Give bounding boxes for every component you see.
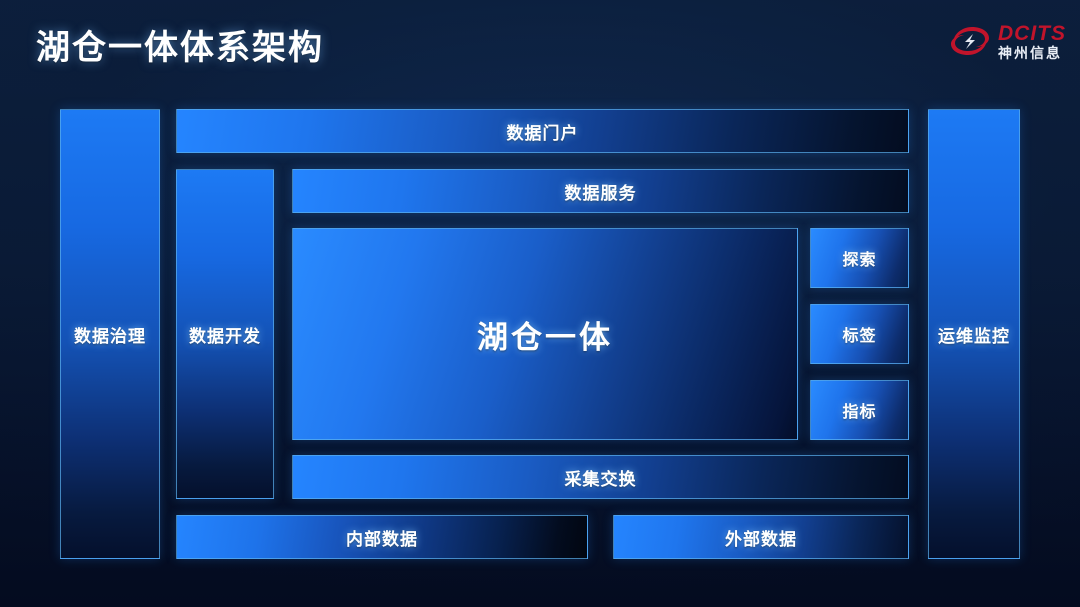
block-lakehouse[interactable]: 湖仓一体: [292, 228, 798, 440]
slide-canvas: 湖仓一体体系架构 DCITS 神州信息 数据治理 数据门户 数据开发 数据服务 …: [0, 0, 1080, 607]
block-external-data[interactable]: 外部数据: [613, 515, 909, 559]
block-internal-data-label: 内部数据: [346, 525, 418, 550]
block-tag[interactable]: 标签: [810, 304, 909, 364]
block-data-governance[interactable]: 数据治理: [60, 109, 160, 559]
block-data-service[interactable]: 数据服务: [292, 169, 909, 213]
block-tag-label: 标签: [842, 322, 876, 346]
block-ops-monitoring[interactable]: 运维监控: [928, 109, 1020, 559]
block-metric[interactable]: 指标: [810, 380, 909, 440]
block-data-portal-label: 数据门户: [507, 119, 579, 144]
block-data-service-label: 数据服务: [565, 179, 637, 204]
block-internal-data[interactable]: 内部数据: [176, 515, 588, 559]
brand-logo: DCITS 神州信息: [948, 18, 1066, 64]
block-metric-label: 指标: [842, 398, 876, 422]
block-explore-label: 探索: [842, 246, 876, 270]
swirl-logo-icon: [948, 24, 992, 58]
block-ops-monitoring-label: 运维监控: [938, 322, 1010, 347]
block-collect-exchange-label: 采集交换: [565, 465, 637, 490]
brand-name-cn: 神州信息: [998, 46, 1066, 60]
block-explore[interactable]: 探索: [810, 228, 909, 288]
brand-name-en: DCITS: [998, 23, 1066, 44]
block-data-portal[interactable]: 数据门户: [176, 109, 909, 153]
block-data-governance-label: 数据治理: [74, 322, 146, 347]
block-lakehouse-label: 湖仓一体: [477, 312, 613, 357]
block-external-data-label: 外部数据: [725, 525, 797, 550]
block-data-development[interactable]: 数据开发: [176, 169, 274, 499]
block-data-development-label: 数据开发: [189, 322, 261, 347]
page-title: 湖仓一体体系架构: [36, 20, 324, 69]
block-collect-exchange[interactable]: 采集交换: [292, 455, 909, 499]
brand-text: DCITS 神州信息: [998, 23, 1066, 60]
